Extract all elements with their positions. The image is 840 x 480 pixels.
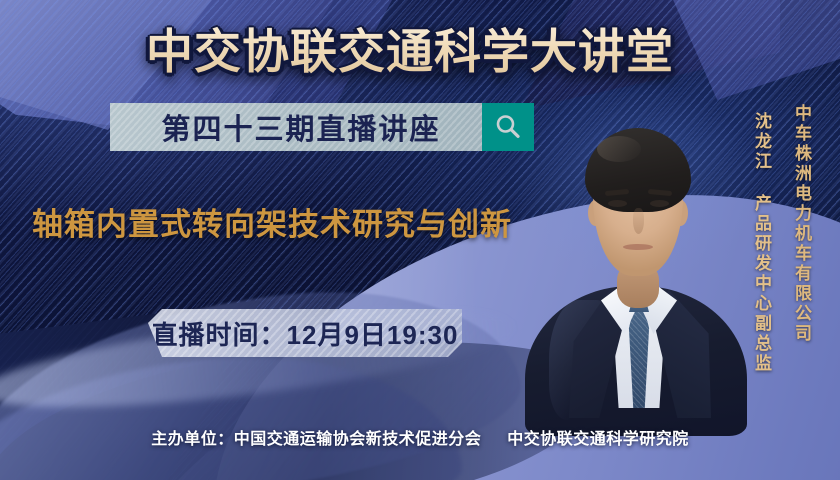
live-time-text: 直播时间：12月9日19:30: [152, 315, 459, 352]
poster-canvas: 中交协联交通科学大讲堂 第四十三期直播讲座 轴箱内置式转向架技术研究与创新 直播…: [0, 0, 840, 480]
speaker-portrait: [543, 104, 728, 404]
speaker-name-role-vertical: 沈龙江 产品研发中心副总监: [749, 112, 774, 374]
portrait-nose: [633, 208, 644, 234]
main-title: 中交协联交通科学大讲堂: [120, 16, 700, 78]
footer-organizer-secondary: 中交协联交通科学研究院: [507, 425, 689, 449]
subtitle-banner: 第四十三期直播讲座: [110, 103, 534, 151]
speaker-company-vertical: 中车株洲电力机车有限公司: [789, 104, 814, 344]
search-icon-box[interactable]: [482, 103, 534, 151]
subtitle-text: 第四十三期直播讲座: [110, 106, 482, 148]
portrait-hair: [585, 128, 691, 212]
footer-organizer-primary: 主办单位：中国交通运输协会新技术促进分会: [151, 425, 481, 449]
footer-organizers: 主办单位：中国交通运输协会新技术促进分会 中交协联交通科学研究院: [0, 424, 840, 450]
portrait-eye-left: [608, 200, 627, 207]
portrait-eye-right: [650, 200, 669, 207]
search-icon: [493, 112, 523, 142]
topic-title: 轴箱内置式转向架技术研究与创新: [32, 198, 592, 244]
portrait-mouth: [623, 244, 653, 250]
live-time-banner: 直播时间：12月9日19:30: [148, 309, 462, 357]
